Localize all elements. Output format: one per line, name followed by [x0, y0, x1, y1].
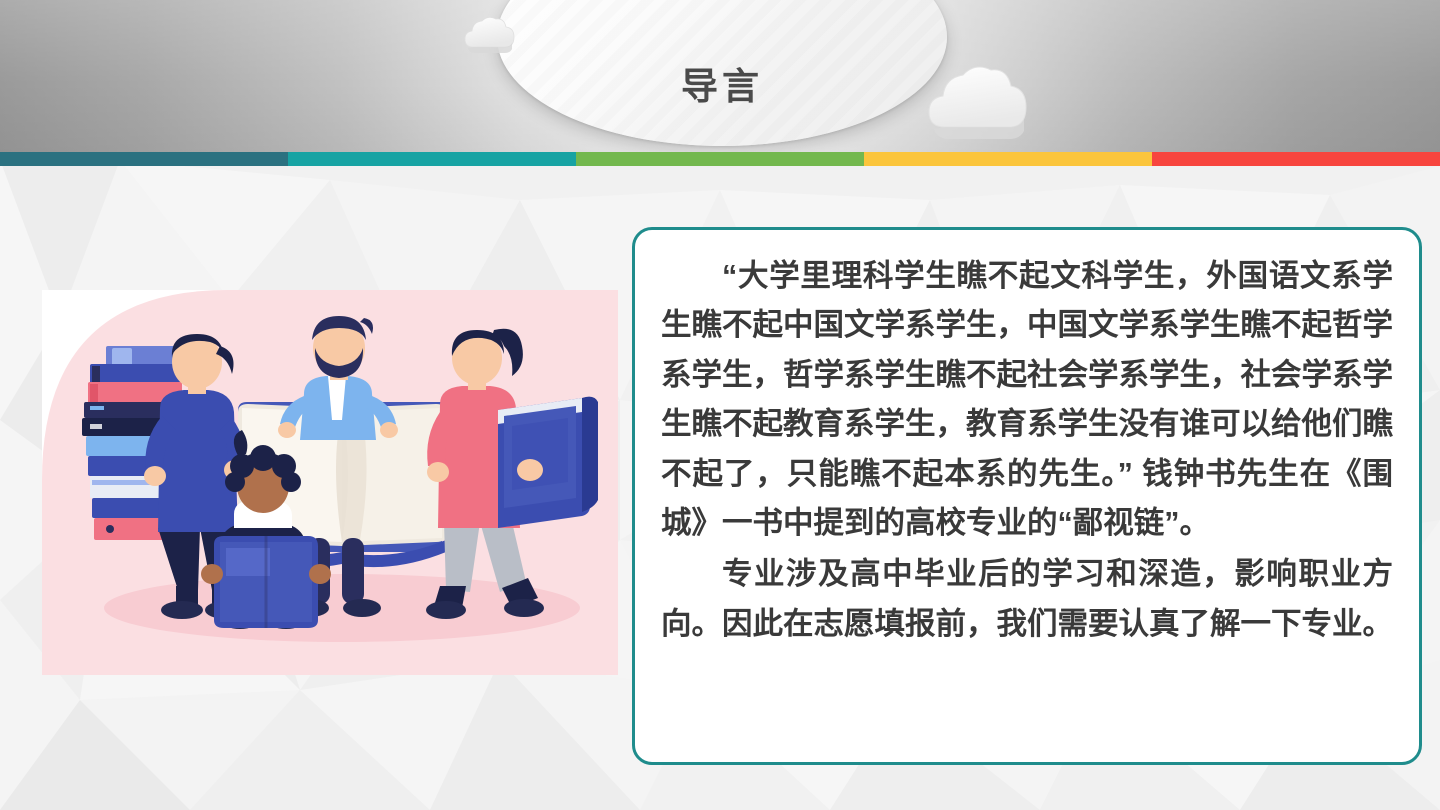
slide-root: 导言 — [0, 0, 1440, 810]
color-bar-segment-4 — [1152, 152, 1440, 166]
color-bar-segment-0 — [0, 152, 288, 166]
content-text-panel: “大学里理科学生瞧不起文科学生，外国语文系学生瞧不起中国文学系学生，中国文学系学… — [632, 227, 1422, 765]
paragraph-summary: 专业涉及高中毕业后的学习和深造，影响职业方向。因此在志愿填报前，我们需要认真了解… — [661, 550, 1393, 649]
cloud-small-left-icon — [461, 12, 517, 58]
page-title: 导言 — [497, 68, 947, 105]
reading-illustration — [42, 290, 618, 675]
paragraph-quote: “大学里理科学生瞧不起文科学生，外国语文系学生瞧不起中国文学系学生，中国文学系学… — [661, 252, 1393, 548]
color-bar-segment-1 — [288, 152, 576, 166]
color-bar-segment-2 — [576, 152, 864, 166]
accent-color-bar — [0, 152, 1440, 166]
color-bar-segment-3 — [864, 152, 1152, 166]
